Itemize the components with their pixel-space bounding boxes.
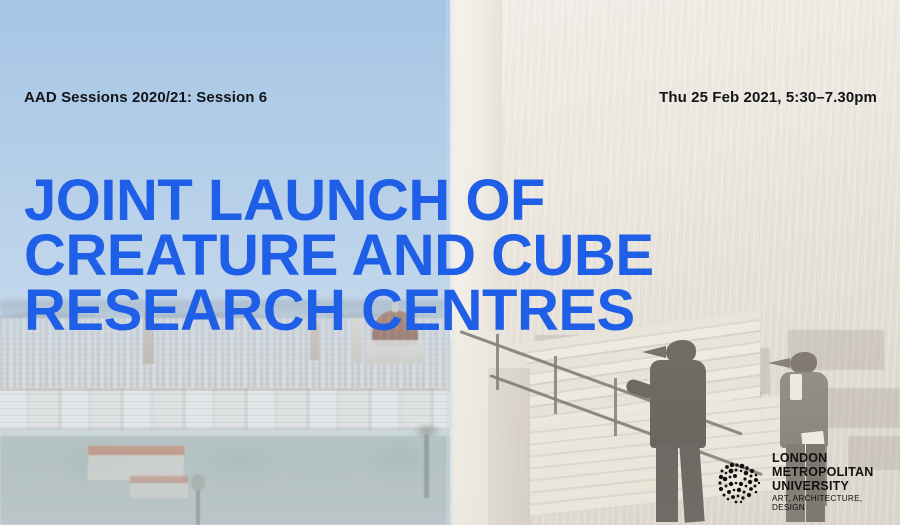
- wall-panel: [820, 388, 900, 428]
- logo-line-university: UNIVERSITY: [772, 480, 888, 493]
- bird-beak: [768, 358, 790, 368]
- event-poster: AAD Sessions 2020/21: Session 6 Thu 25 F…: [0, 0, 900, 525]
- balustrade-plinth: [488, 368, 530, 525]
- handrail-post: [614, 378, 617, 436]
- logo-strapline: ART, ARCHITECTURE, DESIGN: [772, 495, 888, 511]
- page-title: JOINT LAUNCH OF CREATURE AND CUBE RESEAR…: [24, 173, 884, 338]
- logo-line-metropolitan: METROPOLITAN: [772, 466, 888, 479]
- event-datetime: Thu 25 Feb 2021, 5:30–7.30pm: [659, 89, 877, 106]
- terracotta-roof-villa: [87, 446, 184, 480]
- lamp-post: [196, 486, 200, 525]
- session-kicker: AAD Sessions 2020/21: Session 6: [24, 89, 267, 106]
- bird-head-mask: [790, 352, 817, 374]
- duomo-nave: [366, 340, 424, 364]
- logo-wordmark: LONDON METROPOLITAN UNIVERSITY ART, ARCH…: [772, 452, 888, 511]
- headline-line-1: JOINT LAUNCH OF: [24, 173, 884, 228]
- figure-torso: [650, 360, 706, 448]
- headline-line-2: CREATURE AND CUBE: [24, 228, 884, 283]
- handrail-post: [554, 356, 557, 414]
- headline-line-3: RESEARCH CENTRES: [24, 283, 884, 338]
- riverfront-palazzi: [0, 388, 450, 430]
- foreground-trees: [0, 436, 450, 525]
- palm-tree: [424, 434, 429, 498]
- logo-line-london: LONDON: [772, 452, 888, 465]
- london-met-dot-mark-icon: [716, 458, 764, 506]
- small-outbuilding: [130, 476, 188, 498]
- figure-shirt: [790, 374, 802, 400]
- figure-leg: [656, 444, 678, 522]
- london-met-logo: LONDON METROPOLITAN UNIVERSITY ART, ARCH…: [716, 456, 888, 508]
- bird-beak: [642, 346, 666, 358]
